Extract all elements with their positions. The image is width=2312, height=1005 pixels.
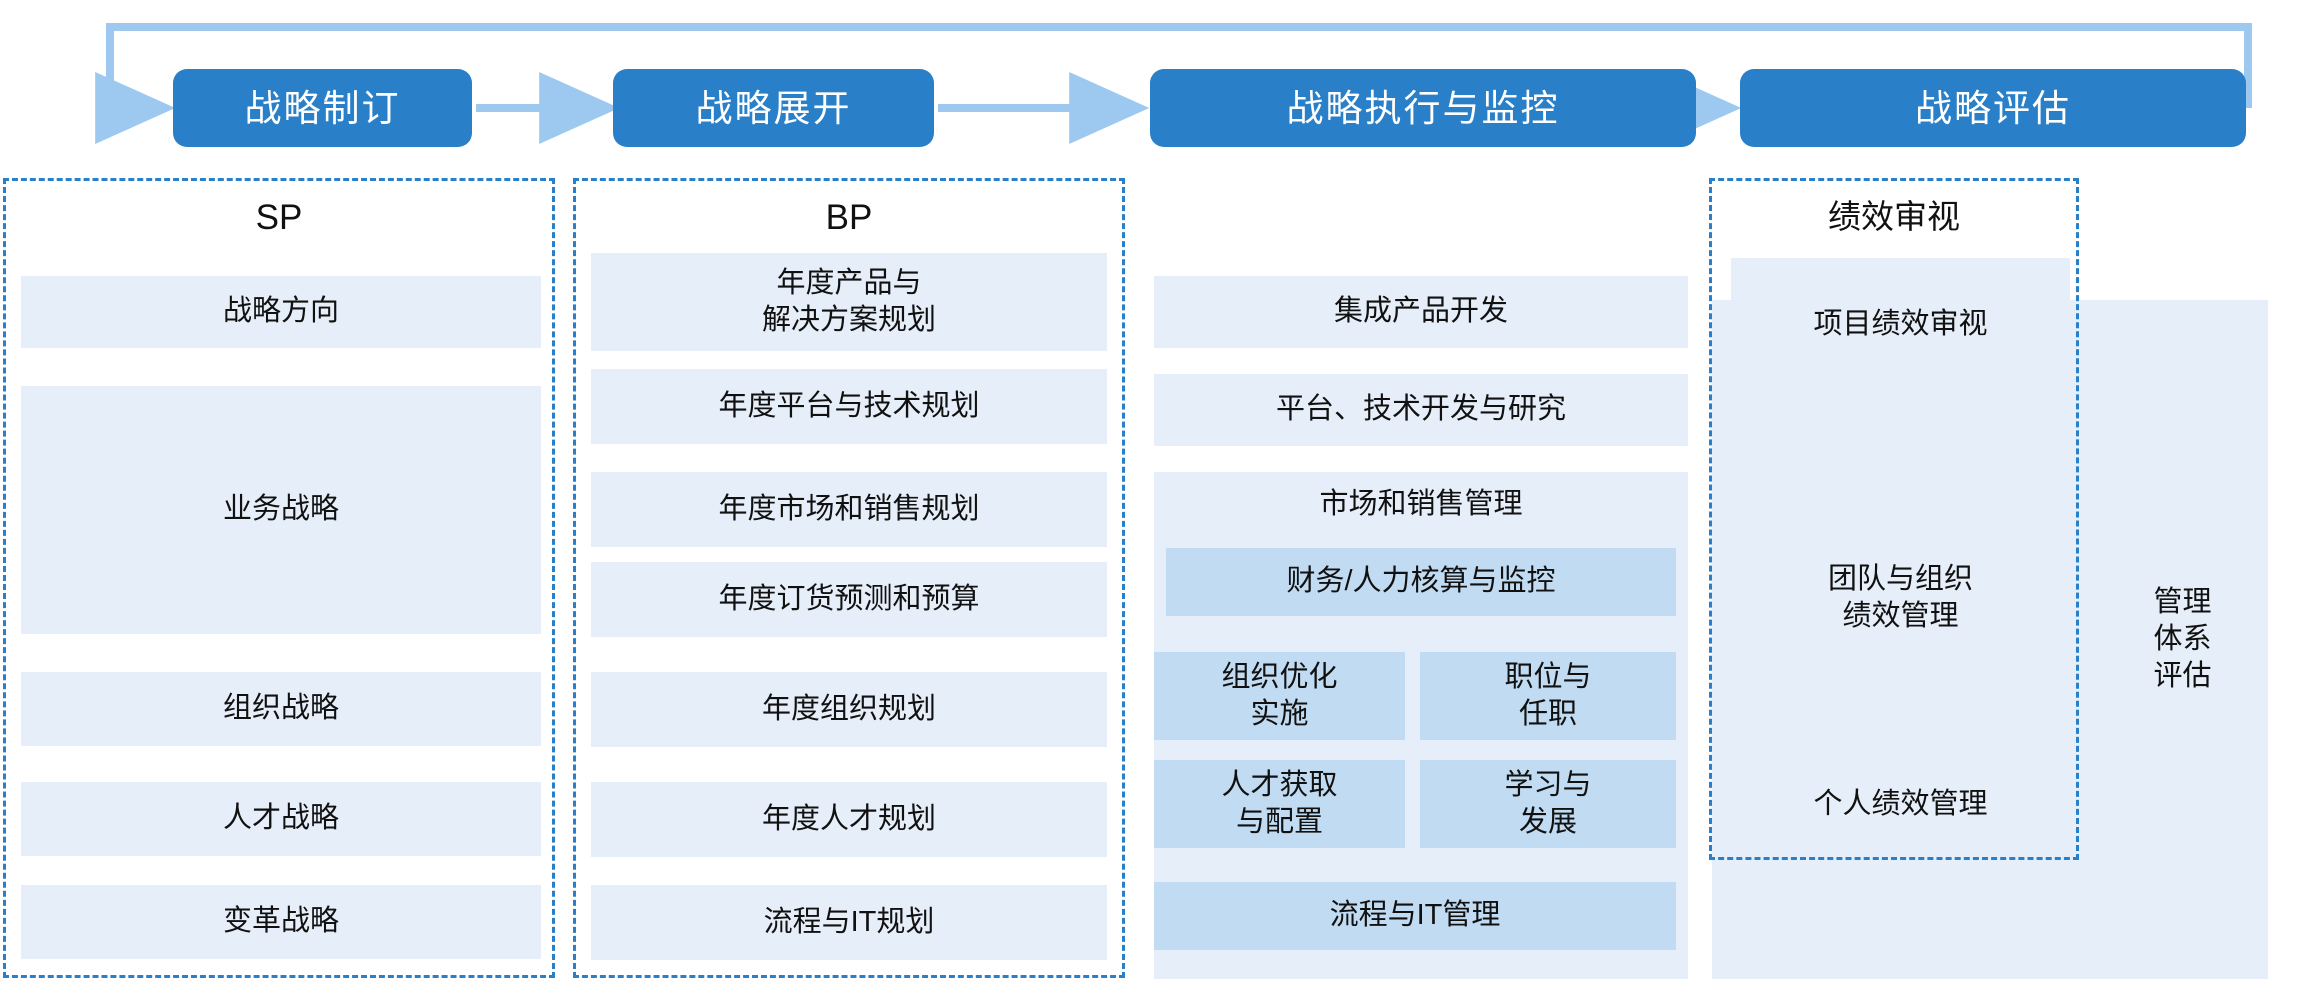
eval-item-management-system-evaluation[interactable]: 管理 体系 评估 [2097,300,2268,979]
bp-item-process-it-plan[interactable]: 流程与IT规划 [591,885,1107,960]
exec-item-label: 平台、技术开发与研究 [1276,391,1566,428]
sp-item-business-strategy[interactable]: 业务战略 [21,386,541,634]
exec-item-learning-development[interactable]: 学习与 发展 [1420,760,1676,848]
column-evaluation-header: 绩效审视 [1709,200,2079,233]
bp-item-label: 年度组织规划 [762,691,936,728]
sp-item-strategic-direction[interactable]: 战略方向 [21,276,541,348]
eval-item-label: 个人绩效管理 [1813,786,1987,823]
sp-item-label: 战略方向 [223,293,339,330]
diagram-canvas: 战略制订 战略展开 战略执行与监控 战略评估 SP 战略方向 业务战略 组织战略… [0,0,2312,1005]
exec-item-label: 集成产品开发 [1334,293,1508,330]
eval-item-individual-performance-management[interactable]: 个人绩效管理 [1731,772,2070,838]
exec-item-label: 财务/人力核算与监控 [1286,563,1555,600]
sp-item-label: 人才战略 [223,800,339,837]
bp-item-label: 年度人才规划 [762,801,936,838]
exec-item-label: 流程与IT管理 [1330,897,1501,934]
phase-strategy-formulation[interactable]: 战略制订 [173,69,472,147]
bp-item-annual-market-sales-plan[interactable]: 年度市场和销售规划 [591,472,1107,547]
bp-item-label: 流程与IT规划 [764,904,935,941]
sp-item-organization-strategy[interactable]: 组织战略 [21,672,541,746]
exec-item-position-and-appointment[interactable]: 职位与 任职 [1420,652,1676,740]
exec-item-finance-hr-accounting-monitoring[interactable]: 财务/人力核算与监控 [1166,548,1676,616]
exec-item-process-it-management[interactable]: 流程与IT管理 [1154,882,1676,950]
bp-item-label: 年度产品与 解决方案规划 [762,265,936,339]
bp-item-label: 年度市场和销售规划 [718,491,979,528]
phase-strategy-deployment[interactable]: 战略展开 [613,69,934,147]
sp-item-label: 变革战略 [223,903,339,940]
exec-item-label: 人才获取 与配置 [1221,767,1337,841]
phase-label: 战略评估 [1915,90,2071,127]
bp-item-annual-product-solution-plan[interactable]: 年度产品与 解决方案规划 [591,253,1107,351]
bp-item-label: 年度订货预测和预算 [718,581,979,618]
exec-item-talent-acquisition-allocation[interactable]: 人才获取 与配置 [1154,760,1405,848]
exec-item-label: 学习与 发展 [1504,767,1591,841]
exec-item-integrated-product-development[interactable]: 集成产品开发 [1154,276,1688,348]
phase-label: 战略展开 [696,90,852,127]
eval-item-team-organization-performance-management[interactable]: 团队与组织 绩效管理 [1731,436,2070,760]
bp-item-annual-organization-plan[interactable]: 年度组织规划 [591,672,1107,747]
eval-item-label: 团队与组织 绩效管理 [1828,561,1973,635]
phase-label: 战略制订 [245,90,401,127]
phase-label: 战略执行与监控 [1287,90,1560,127]
exec-item-market-sales-management[interactable]: 市场和销售管理 [1154,472,1688,538]
exec-item-label: 组织优化 实施 [1221,659,1337,733]
eval-item-project-performance-review[interactable]: 项目绩效审视 [1731,258,2070,391]
exec-item-label: 职位与 任职 [1504,659,1591,733]
bp-item-annual-order-forecast-budget[interactable]: 年度订货预测和预算 [591,562,1107,637]
sp-item-label: 业务战略 [223,491,339,528]
column-bp-header: BP [573,200,1125,235]
column-sp-header: SP [3,200,555,235]
sp-item-talent-strategy[interactable]: 人才战略 [21,782,541,856]
bp-item-label: 年度平台与技术规划 [718,388,979,425]
exec-item-organization-optimization-implementation[interactable]: 组织优化 实施 [1154,652,1405,740]
eval-item-label: 项目绩效审视 [1813,306,1987,343]
sp-item-label: 组织战略 [223,690,339,727]
phase-strategy-evaluation[interactable]: 战略评估 [1740,69,2246,147]
bp-item-annual-talent-plan[interactable]: 年度人才规划 [591,782,1107,857]
exec-item-label: 市场和销售管理 [1319,486,1522,523]
phase-strategy-execution[interactable]: 战略执行与监控 [1150,69,1696,147]
sp-item-transformation-strategy[interactable]: 变革战略 [21,885,541,959]
bp-item-annual-platform-tech-plan[interactable]: 年度平台与技术规划 [591,369,1107,444]
exec-item-platform-tech-development-research[interactable]: 平台、技术开发与研究 [1154,374,1688,446]
eval-item-label: 管理 体系 评估 [2153,584,2211,695]
